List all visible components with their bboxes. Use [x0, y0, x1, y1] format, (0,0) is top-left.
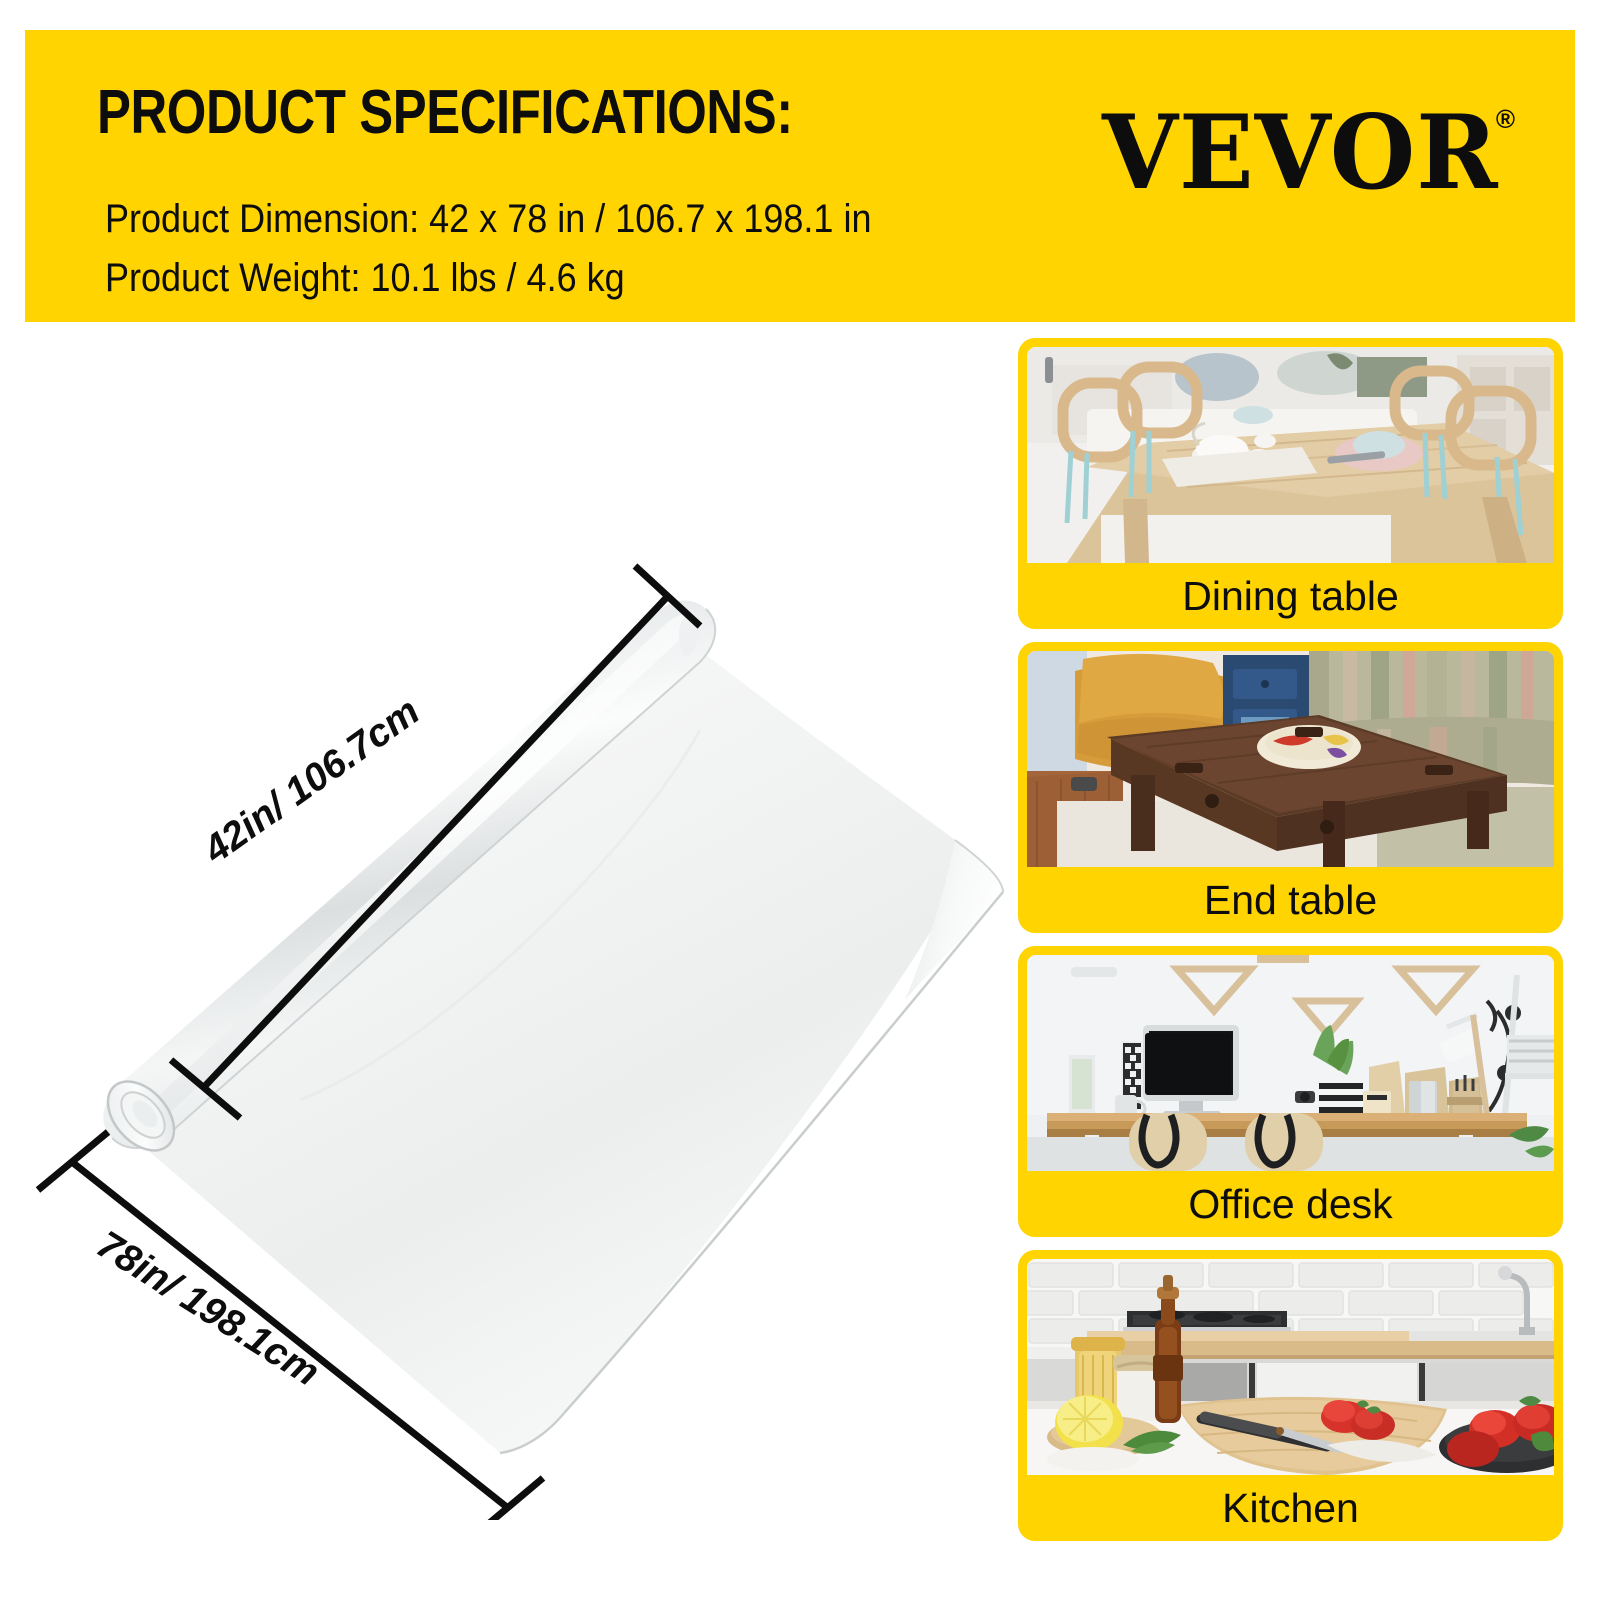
pvc-mat-drawing	[0, 400, 1010, 1520]
use-case-card-dining-table[interactable]: Dining table	[1018, 338, 1563, 629]
use-case-card-kitchen[interactable]: Kitchen	[1018, 1250, 1563, 1541]
brand-wordmark: VEVOR	[1102, 102, 1499, 204]
office-desk-photo	[1027, 955, 1554, 1171]
kitchen-photo	[1027, 1259, 1554, 1475]
specification-list: Product Dimension: 42 x 78 in / 106.7 x …	[105, 190, 871, 308]
length-dimension-tick-end	[474, 1478, 543, 1520]
use-case-card-end-table[interactable]: End table	[1018, 642, 1563, 933]
page-title: PRODUCT SPECIFICATIONS:	[97, 82, 793, 144]
use-case-label-end-table: End table	[1027, 867, 1554, 933]
spec-dimension-line: Product Dimension: 42 x 78 in / 106.7 x …	[105, 190, 871, 249]
product-illustration: 42in/ 106.7cm 78in/ 198.1cm	[0, 400, 1010, 1520]
dining-table-photo	[1027, 347, 1554, 563]
use-case-label-kitchen: Kitchen	[1027, 1475, 1554, 1541]
vevor-logo: VEVOR ®	[1102, 102, 1515, 212]
use-case-card-office-desk[interactable]: Office desk	[1018, 946, 1563, 1237]
use-case-label-office-desk: Office desk	[1027, 1171, 1554, 1237]
end-table-photo	[1027, 651, 1554, 867]
use-case-label-dining-table: Dining table	[1027, 563, 1554, 629]
specifications-banner: PRODUCT SPECIFICATIONS: Product Dimensio…	[25, 30, 1575, 322]
spec-weight-line: Product Weight: 10.1 lbs / 4.6 kg	[105, 249, 871, 308]
use-case-card-list: Dining table	[1018, 338, 1578, 1554]
